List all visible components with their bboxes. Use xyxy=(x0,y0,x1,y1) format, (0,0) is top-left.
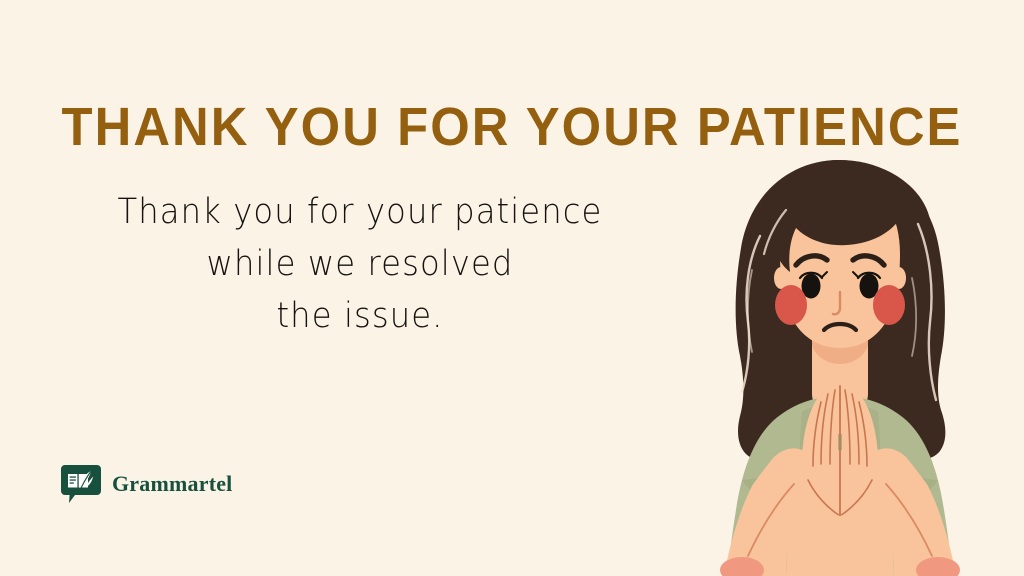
page-title: THANK YOU FOR YOUR PATIENCE xyxy=(31,98,994,156)
speech-bubble-book-quill-icon xyxy=(60,463,102,505)
slide-canvas: THANK YOU FOR YOUR PATIENCE Thank you fo… xyxy=(0,0,1024,576)
worried-woman-pleading-hands-illustration xyxy=(690,150,990,576)
body-line-2: while we resolved xyxy=(66,238,655,290)
body-line-3: the issue. xyxy=(66,290,655,342)
brand-name: Grammartel xyxy=(112,473,233,495)
brand-logo[interactable]: Grammartel xyxy=(60,463,233,505)
body-line-1: Thank you for your patience xyxy=(66,186,655,238)
body-message: Thank you for your patience while we res… xyxy=(66,186,655,342)
